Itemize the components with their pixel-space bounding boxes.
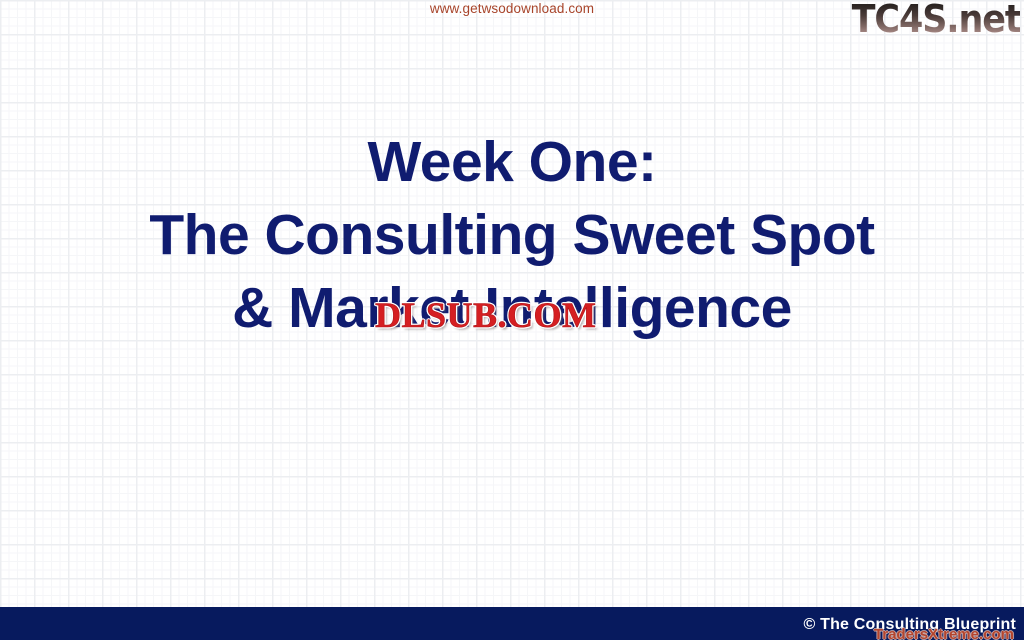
slide-title-line-2: The Consulting Sweet Spot xyxy=(0,199,1024,272)
slide-footer-bar: © The Consulting Blueprint TradersXtreme… xyxy=(0,607,1024,640)
presentation-slide: www.getwsodownload.com TC4S.net Week One… xyxy=(0,0,1024,640)
tc4s-brand-logo: TC4S.net xyxy=(851,0,1020,41)
tradersxtreme-footer-watermark: TradersXtreme.com xyxy=(874,626,1014,640)
slide-title-line-1: Week One: xyxy=(0,126,1024,199)
dlsub-center-watermark: DLSUB.COM xyxy=(375,294,597,336)
